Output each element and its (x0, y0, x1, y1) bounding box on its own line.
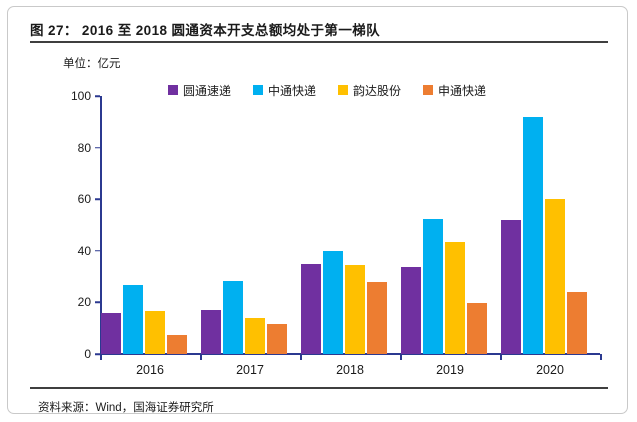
x-axis-tick-mark (500, 354, 502, 360)
y-axis-tick-label: 0 (84, 347, 91, 361)
y-axis-tick-label: 20 (78, 295, 91, 309)
y-axis-tick-label: 80 (78, 141, 91, 155)
title-divider (30, 41, 608, 43)
y-axis-tick-mark (95, 95, 100, 97)
y-axis-tick-mark (95, 147, 100, 149)
bar-2019-中通快递 (423, 219, 443, 354)
figure-container: 图 27： 2016 至 2018 圆通资本开支总额均处于第一梯队 单位：亿元 … (7, 6, 628, 414)
bar-2016-韵达股份 (145, 311, 165, 354)
bar-2017-韵达股份 (245, 318, 265, 354)
legend-swatch-icon (253, 85, 263, 95)
x-axis-tick-mark (300, 354, 302, 360)
legend-swatch-icon (168, 85, 178, 95)
bar-2020-圆通速递 (501, 220, 521, 354)
source-note: 资料来源：Wind，国海证券研究所 (38, 399, 214, 414)
bar-2020-中通快递 (523, 117, 543, 354)
bar-2017-申通快递 (267, 324, 287, 354)
x-axis-tick-label-2017: 2017 (236, 363, 264, 377)
bar-2017-中通快递 (223, 281, 243, 354)
bar-2016-申通快递 (167, 335, 187, 354)
bar-2019-圆通速递 (401, 267, 421, 354)
y-axis-tick-mark (95, 198, 100, 200)
bar-2020-申通快递 (567, 292, 587, 354)
y-axis-tick-mark (95, 250, 100, 252)
x-axis-tick-mark (100, 354, 102, 360)
footer-divider (30, 387, 608, 389)
bar-2018-韵达股份 (345, 265, 365, 354)
bar-2018-圆通速递 (301, 264, 321, 354)
x-axis-tick-label-2016: 2016 (136, 363, 164, 377)
y-axis-tick-mark (95, 302, 100, 304)
x-axis-tick-label-2019: 2019 (436, 363, 464, 377)
x-axis-tick-mark (200, 354, 202, 360)
bar-2017-圆通速递 (201, 310, 221, 354)
plot-area: 02040608010020162017201820192020 (100, 96, 600, 354)
bar-2018-申通快递 (367, 282, 387, 354)
unit-label: 单位：亿元 (63, 55, 121, 71)
bar-2018-中通快递 (323, 251, 343, 354)
bar-2016-中通快递 (123, 285, 143, 354)
bar-2019-申通快递 (467, 303, 487, 354)
bar-2019-韵达股份 (445, 242, 465, 354)
y-axis-tick-label: 100 (71, 89, 91, 103)
legend-swatch-icon (423, 85, 433, 95)
y-axis-tick-label: 40 (78, 244, 91, 258)
x-axis-tick-mark (600, 354, 602, 360)
bar-2016-圆通速递 (101, 313, 121, 354)
x-axis-tick-label-2018: 2018 (336, 363, 364, 377)
y-axis-tick-label: 60 (78, 192, 91, 206)
bar-2020-韵达股份 (545, 199, 565, 354)
figure-title: 图 27： 2016 至 2018 圆通资本开支总额均处于第一梯队 (30, 17, 608, 41)
x-axis-tick-mark (400, 354, 402, 360)
figure-title-text: 图 27： 2016 至 2018 圆通资本开支总额均处于第一梯队 (30, 19, 380, 39)
legend-swatch-icon (338, 85, 348, 95)
x-axis-tick-label-2020: 2020 (536, 363, 564, 377)
